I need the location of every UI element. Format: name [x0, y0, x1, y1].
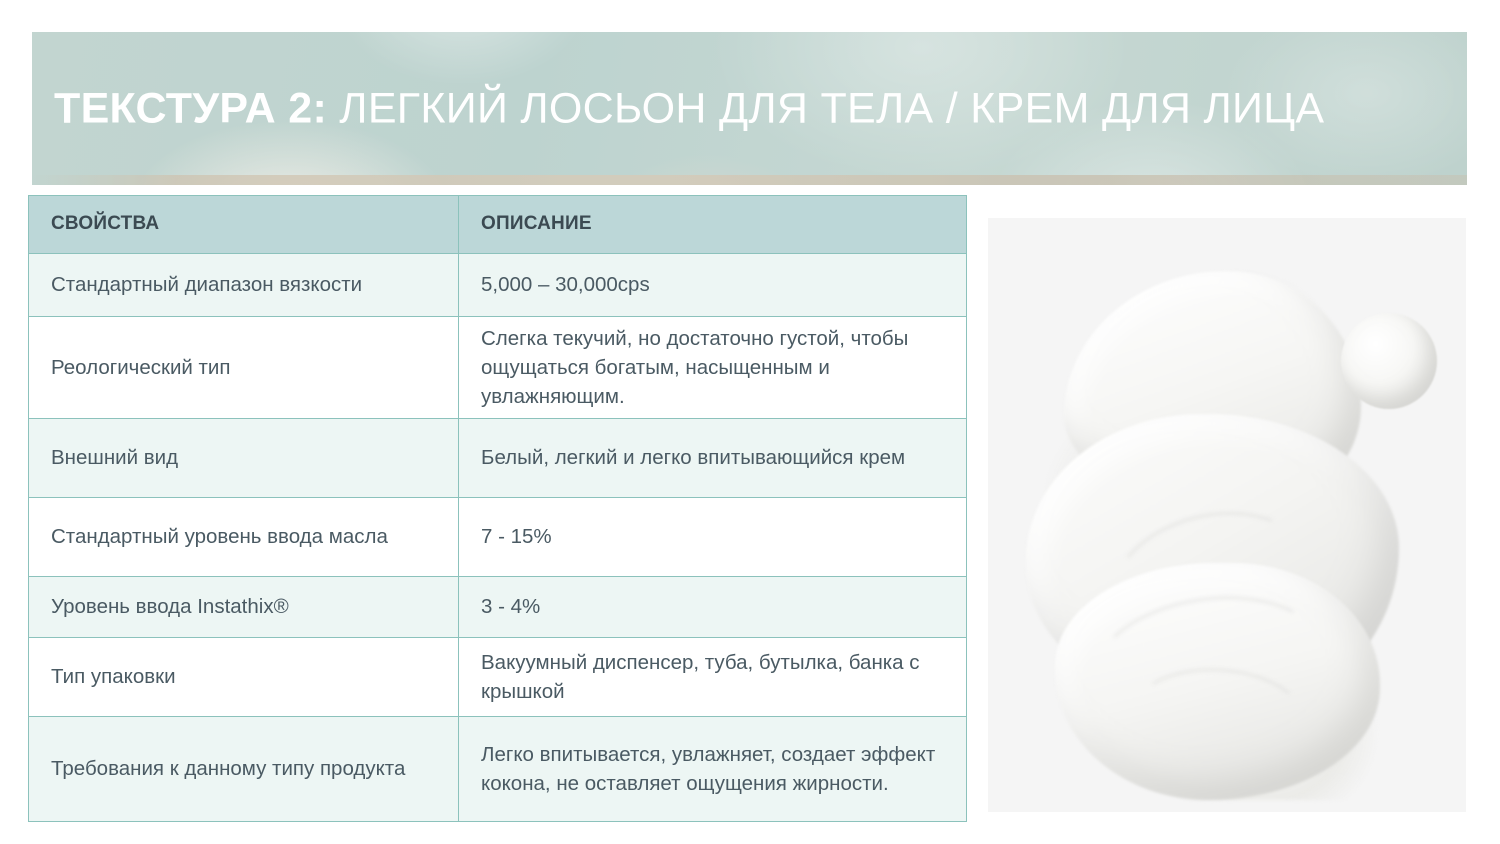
- row-property: Требования к данному типу продукта: [29, 717, 459, 822]
- row-property: Стандартный диапазон вязкости: [29, 254, 459, 317]
- row-description: Легко впитывается, увлажняет, создает эф…: [459, 717, 967, 822]
- table-row: Уровень ввода Instathix® 3 - 4%: [29, 577, 967, 638]
- specification-table: СВОЙСТВА ОПИСАНИЕ Стандартный диапазон в…: [28, 195, 967, 822]
- row-property: Стандартный уровень ввода масла: [29, 498, 459, 577]
- row-property: Уровень ввода Instathix®: [29, 577, 459, 638]
- table-row: Стандартный уровень ввода масла 7 - 15%: [29, 498, 967, 577]
- row-description: Белый, легкий и легко впитывающийся крем: [459, 419, 967, 498]
- page-title-light: ЛЕГКИЙ ЛОСЬОН ДЛЯ ТЕЛА / КРЕМ ДЛЯ ЛИЦА: [327, 84, 1324, 132]
- table-row: Реологический тип Слегка текучий, но дос…: [29, 317, 967, 419]
- row-property: Тип упаковки: [29, 638, 459, 717]
- row-property: Реологический тип: [29, 317, 459, 419]
- header-photo-strip: [32, 175, 1467, 185]
- table-row: Тип упаковки Вакуумный диспенсер, туба, …: [29, 638, 967, 717]
- row-description: 3 - 4%: [459, 577, 967, 638]
- table-row: Стандартный диапазон вязкости 5,000 – 30…: [29, 254, 967, 317]
- page-title: ТЕКСТУРА 2: ЛЕГКИЙ ЛОСЬОН ДЛЯ ТЕЛА / КРЕ…: [54, 87, 1324, 130]
- table-header-row: СВОЙСТВА ОПИСАНИЕ: [29, 196, 967, 254]
- row-description: 5,000 – 30,000cps: [459, 254, 967, 317]
- column-header-properties: СВОЙСТВА: [29, 196, 459, 254]
- table-row: Требования к данному типу продукта Легко…: [29, 717, 967, 822]
- table-row: Внешний вид Белый, легкий и легко впитыв…: [29, 419, 967, 498]
- product-texture-photo: [988, 218, 1466, 812]
- header-banner: ТЕКСТУРА 2: ЛЕГКИЙ ЛОСЬОН ДЛЯ ТЕЛА / КРЕ…: [32, 32, 1467, 185]
- row-description: Вакуумный диспенсер, туба, бутылка, банк…: [459, 638, 967, 717]
- table-header: СВОЙСТВА ОПИСАНИЕ: [29, 196, 967, 254]
- column-header-description: ОПИСАНИЕ: [459, 196, 967, 254]
- row-property: Внешний вид: [29, 419, 459, 498]
- table-body: Стандартный диапазон вязкости 5,000 – 30…: [29, 254, 967, 822]
- row-description: Слегка текучий, но достаточно густой, чт…: [459, 317, 967, 419]
- row-description: 7 - 15%: [459, 498, 967, 577]
- page-title-strong: ТЕКСТУРА 2:: [54, 84, 327, 132]
- cream-droplet: [1341, 313, 1437, 409]
